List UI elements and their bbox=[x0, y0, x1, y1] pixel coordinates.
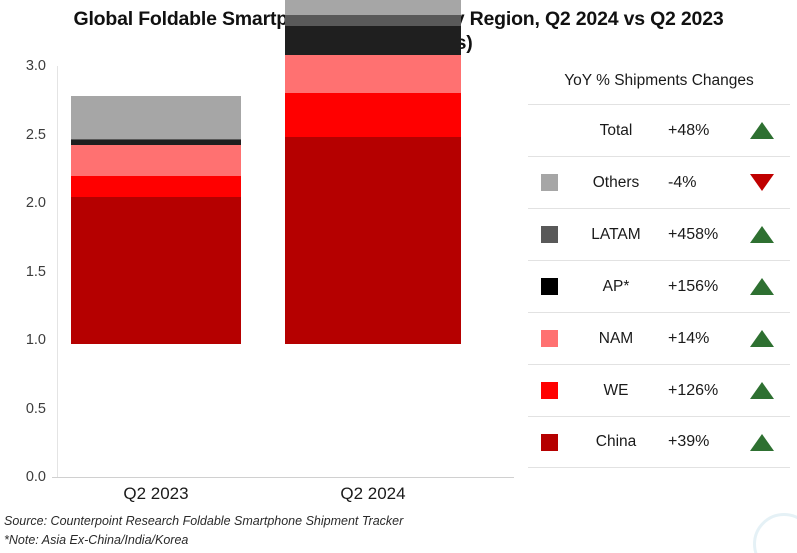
bar-segment-china[interactable] bbox=[71, 197, 241, 344]
triangle-up-icon bbox=[750, 434, 774, 451]
yoy-legend-table: YoY % Shipments Changes Total+48%Others-… bbox=[528, 72, 790, 468]
bar-segment-china[interactable] bbox=[285, 137, 461, 344]
legend-swatch-cell bbox=[528, 382, 570, 399]
yoy-change-value: +126% bbox=[662, 382, 738, 400]
x-label-q2-2024: Q2 2024 bbox=[285, 484, 461, 504]
yoy-rows-container: Total+48%Others-4%LATAM+458%AP*+156%NAM+… bbox=[528, 104, 790, 468]
yoy-row-china[interactable]: China+39% bbox=[528, 416, 790, 468]
yoy-region-name: Others bbox=[570, 174, 662, 192]
counterpoint-watermark: Counterpoint bbox=[168, 399, 370, 430]
yoy-table-header: YoY % Shipments Changes bbox=[528, 72, 790, 104]
corner-logo-icon bbox=[753, 513, 797, 553]
yoy-region-name: LATAM bbox=[570, 226, 662, 244]
legend-swatch-cell bbox=[528, 434, 570, 451]
legend-color-swatch bbox=[541, 278, 558, 295]
yoy-change-value: +48% bbox=[662, 122, 738, 140]
triangle-up-icon bbox=[750, 382, 774, 399]
legend-color-swatch bbox=[541, 174, 558, 191]
yoy-change-value: +458% bbox=[662, 226, 738, 244]
legend-color-swatch bbox=[541, 226, 558, 243]
y-tick-label: 1.0 bbox=[0, 332, 46, 348]
triangle-up-icon bbox=[750, 330, 774, 347]
watermark-text: Counterpoint bbox=[201, 399, 370, 430]
yoy-region-name: China bbox=[570, 433, 662, 451]
yoy-arrow-cell bbox=[738, 434, 786, 451]
triangle-down-icon bbox=[750, 174, 774, 191]
yoy-change-value: +14% bbox=[662, 330, 738, 348]
legend-color-swatch bbox=[541, 330, 558, 347]
yoy-row-nam[interactable]: NAM+14% bbox=[528, 312, 790, 364]
bar-segment-others[interactable] bbox=[71, 96, 241, 138]
bar-segment-ap[interactable] bbox=[285, 26, 461, 55]
counterpoint-logo-icon bbox=[168, 403, 192, 427]
y-axis-line bbox=[57, 66, 58, 477]
legend-swatch-cell bbox=[528, 278, 570, 295]
bar-segment-we[interactable] bbox=[285, 93, 461, 137]
yoy-arrow-cell bbox=[738, 382, 786, 399]
yoy-row-latam[interactable]: LATAM+458% bbox=[528, 208, 790, 260]
yoy-arrow-cell bbox=[738, 122, 786, 139]
yoy-change-value: +39% bbox=[662, 433, 738, 451]
y-tick-label: 0.0 bbox=[0, 469, 46, 485]
yoy-region-name: AP* bbox=[570, 278, 662, 296]
yoy-arrow-cell bbox=[738, 330, 786, 347]
y-tick-label: 3.0 bbox=[0, 58, 46, 74]
yoy-arrow-cell bbox=[738, 278, 786, 295]
plot-area: 0.00.51.01.52.02.53.0 Counterpoint Q2 20… bbox=[0, 66, 520, 486]
yoy-arrow-cell bbox=[738, 174, 786, 191]
source-text: Source: Counterpoint Research Foldable S… bbox=[4, 512, 604, 531]
y-tick-label: 0.5 bbox=[0, 401, 46, 417]
yoy-row-ap[interactable]: AP*+156% bbox=[528, 260, 790, 312]
y-tick-label: 2.0 bbox=[0, 195, 46, 211]
y-tick-label: 2.5 bbox=[0, 127, 46, 143]
bar-q2-2023[interactable] bbox=[71, 96, 241, 344]
bar-segment-we[interactable] bbox=[71, 176, 241, 198]
legend-swatch-cell bbox=[528, 174, 570, 191]
x-label-q2-2023: Q2 2023 bbox=[71, 484, 241, 504]
yoy-change-value: +156% bbox=[662, 278, 738, 296]
chart-page: Global Foldable Smartphone Shipments by … bbox=[0, 0, 797, 553]
legend-swatch-cell bbox=[528, 330, 570, 347]
bar-q2-2024[interactable] bbox=[285, 0, 461, 344]
bar-segment-nam[interactable] bbox=[71, 145, 241, 175]
triangle-up-icon bbox=[750, 278, 774, 295]
triangle-up-icon bbox=[750, 122, 774, 139]
bar-segment-latam[interactable] bbox=[285, 15, 461, 26]
y-tick-label: 1.5 bbox=[0, 264, 46, 280]
yoy-region-name: NAM bbox=[570, 330, 662, 348]
yoy-row-we[interactable]: WE+126% bbox=[528, 364, 790, 416]
yoy-row-others[interactable]: Others-4% bbox=[528, 156, 790, 208]
yoy-arrow-cell bbox=[738, 226, 786, 243]
triangle-up-icon bbox=[750, 226, 774, 243]
yoy-region-name: Total bbox=[570, 122, 662, 140]
legend-swatch-cell bbox=[528, 226, 570, 243]
bar-segment-others[interactable] bbox=[285, 0, 461, 15]
yoy-row-total[interactable]: Total+48% bbox=[528, 104, 790, 156]
legend-color-swatch bbox=[541, 382, 558, 399]
legend-color-swatch bbox=[541, 434, 558, 451]
yoy-change-value: -4% bbox=[662, 174, 738, 192]
yoy-region-name: WE bbox=[570, 382, 662, 400]
note-text: *Note: Asia Ex-China/India/Korea bbox=[4, 531, 604, 550]
bar-segment-nam[interactable] bbox=[285, 55, 461, 93]
x-axis-line bbox=[52, 477, 514, 478]
footer: Source: Counterpoint Research Foldable S… bbox=[4, 512, 604, 550]
